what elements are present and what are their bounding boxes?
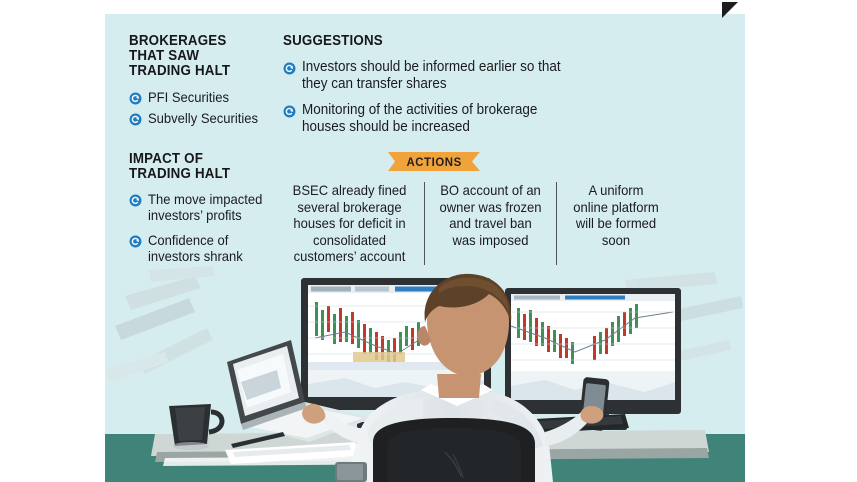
arrow-circle-icon — [129, 235, 142, 248]
action-column-text: BSEC already fined several brokerage hou… — [289, 182, 411, 265]
suggestions-list: Investors should be informed earlier so … — [283, 59, 593, 136]
action-column: A uniform online platform will be formed… — [557, 182, 675, 265]
list-item: Confidence of investors shrank — [129, 232, 274, 264]
list-item: Investors should be informed earlier so … — [283, 59, 593, 93]
arrow-circle-icon — [129, 92, 142, 105]
suggestions-section: SUGGESTIONS Investors should be informed… — [283, 34, 593, 145]
trader-illustration — [105, 266, 745, 482]
arrow-circle-icon — [283, 105, 296, 118]
brokerages-heading-line-1: BROKERAGES — [129, 34, 267, 49]
action-column: BO account of an owner was frozen and tr… — [425, 182, 557, 265]
brokerages-list: PFI Securities Subvelly Securities — [129, 89, 279, 126]
list-item-label: Subvelly Securities — [148, 110, 258, 126]
list-item-label: Monitoring of the activities of brokerag… — [302, 102, 573, 136]
impact-heading-line-1: IMPACT OF — [129, 152, 262, 167]
list-item: The move impacted investors’ profits — [129, 191, 274, 223]
corner-notch-icon — [722, 2, 738, 18]
list-item: Monitoring of the activities of brokerag… — [283, 102, 593, 136]
arrow-circle-icon — [283, 62, 296, 75]
list-item-label: The move impacted investors’ profits — [148, 191, 265, 223]
list-item-label: PFI Securities — [148, 89, 229, 105]
action-column-text: A uniform online platform will be formed… — [570, 182, 663, 248]
suggestions-heading: SUGGESTIONS — [283, 34, 568, 49]
list-item-label: Confidence of investors shrank — [148, 232, 265, 264]
actions-ribbon-shape: ACTIONS — [388, 152, 480, 171]
list-item: Subvelly Securities — [129, 110, 279, 126]
impact-section: IMPACT OF TRADING HALT The move impacted… — [129, 152, 274, 273]
impact-list: The move impacted investors’ profits Con… — [129, 191, 274, 264]
arrow-circle-icon — [129, 113, 142, 126]
impact-heading-line-2: TRADING HALT — [129, 167, 262, 182]
actions-banner: ACTIONS — [388, 152, 480, 171]
action-column: BSEC already fined several brokerage hou… — [275, 182, 425, 265]
brokerages-heading: BROKERAGES THAT SAW TRADING HALT — [129, 34, 267, 79]
arrow-circle-icon — [129, 194, 142, 207]
action-column-text: BO account of an owner was frozen and tr… — [438, 182, 543, 248]
brokerages-heading-line-2: THAT SAW — [129, 49, 267, 64]
brokerages-heading-line-3: TRADING HALT — [129, 64, 267, 79]
brokerages-section: BROKERAGES THAT SAW TRADING HALT PFI Sec… — [129, 34, 279, 131]
list-item: PFI Securities — [129, 89, 279, 105]
infographic-panel: BROKERAGES THAT SAW TRADING HALT PFI Sec… — [105, 14, 745, 482]
actions-columns: BSEC already fined several brokerage hou… — [275, 182, 625, 265]
list-item-label: Investors should be informed earlier so … — [302, 59, 573, 93]
impact-heading: IMPACT OF TRADING HALT — [129, 152, 262, 182]
actions-label: ACTIONS — [406, 155, 461, 169]
